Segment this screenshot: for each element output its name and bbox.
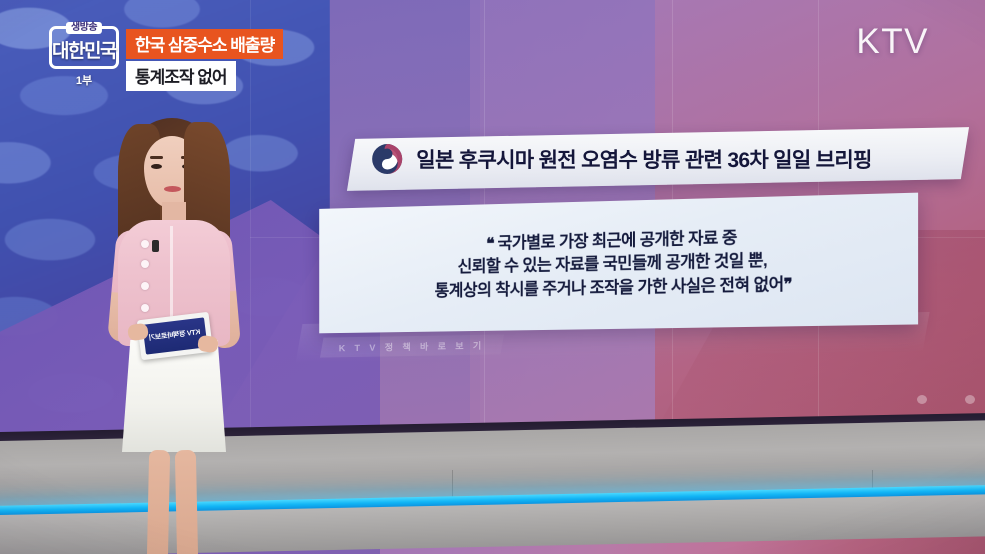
quote-text-block: ❝ 국가별로 가장 최근에 공개한 자료 중 신뢰할 수 있는 자료를 국민들께… [412,225,817,304]
anchor-leg-right [175,450,198,554]
briefing-title-bar: 일본 후쿠시마 원전 오염수 방류 관련 36차 일일 브리핑 [347,127,969,191]
briefing-title-text: 일본 후쿠시마 원전 오염수 방류 관련 36차 일일 브리핑 [416,144,871,174]
program-logo-frame: 생방송 대한민국 [49,26,119,69]
program-identification-bug: 생방송 대한민국 1부 한국 삼중수소 배출량 통계조작 없어 [48,26,298,90]
program-strap: K T V 정 책 바 로 보 기 [320,334,504,357]
program-logo: 생방송 대한민국 1부 [48,26,120,88]
headline-primary: 한국 삼중수소 배출량 [126,29,283,59]
channel-watermark: KTV [856,22,929,62]
headline-group: 한국 삼중수소 배출량 통계조작 없어 [126,29,283,91]
program-name: 대한민국 [52,42,116,61]
anchor-leg-left [147,450,170,554]
quote-line-3-text: 통계상의 착시를 주거나 조작을 가한 사실은 전혀 없어 [435,275,784,300]
quote-panel: ❝ 국가별로 가장 최근에 공개한 자료 중 신뢰할 수 있는 자료를 국민들께… [319,193,918,334]
live-badge: 생방송 [66,22,102,34]
quote-line-1-text: 국가별로 가장 최근에 공개한 자료 중 [498,228,737,252]
headline-secondary: 통계조작 없어 [126,61,236,91]
korea-government-taegeuk-icon [371,143,403,175]
program-part-label: 1부 [76,72,92,88]
program-strap-text: K T V 정 책 바 로 보 기 [339,338,485,353]
briefing-title-bar-content: 일본 후쿠시마 원전 오염수 방류 관련 36차 일일 브리핑 [351,143,965,175]
open-quote-icon: ❝ [486,235,493,252]
broadcast-frame: KTV 정책바로보기 일본 후쿠시마 원전 오염수 방류 관련 36차 일일 브… [0,0,985,554]
close-quote-icon: ❞ [784,276,792,293]
